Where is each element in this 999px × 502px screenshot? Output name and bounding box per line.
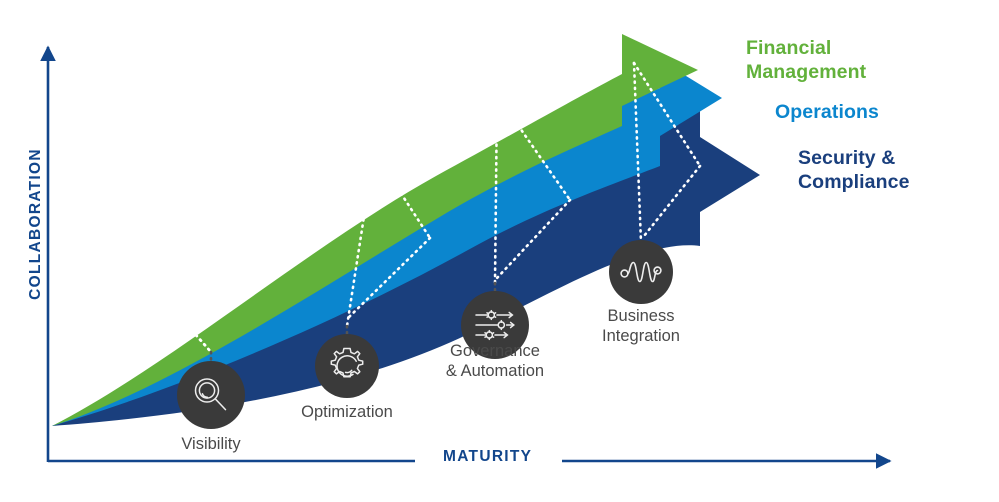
caption-line1: Governance [415, 341, 575, 361]
caption-line1: Optimization [267, 402, 427, 422]
caption-line2: & Automation [415, 361, 575, 381]
band-label-line1: Financial [746, 36, 866, 60]
maturity-diagram: COLLABORATION MATURITY Financial Managem… [0, 0, 999, 502]
x-axis-label: MATURITY [443, 448, 532, 466]
band-label-operations: Operations [775, 100, 879, 124]
gear-icon [315, 334, 379, 398]
visibility-caption: Visibility [131, 434, 291, 454]
caption-line1: Business [561, 306, 721, 326]
band-label-line2: Management [746, 60, 866, 84]
governance-automation-caption: Governance & Automation [415, 341, 575, 381]
optimization-circle[interactable] [315, 334, 379, 398]
band-label-line1: Security & [798, 146, 910, 170]
band-label-line2: Compliance [798, 170, 910, 194]
caption-line2: Integration [561, 326, 721, 346]
band-label-line1: Operations [775, 100, 879, 124]
band-label-financial-management: Financial Management [746, 36, 866, 84]
business-integration-circle[interactable] [609, 240, 673, 304]
magnifier-icon [177, 361, 245, 429]
caption-line1: Visibility [131, 434, 291, 454]
optimization-caption: Optimization [267, 402, 427, 422]
visibility-circle[interactable] [177, 361, 245, 429]
business-integration-caption: Business Integration [561, 306, 721, 346]
band-label-security-compliance: Security & Compliance [798, 146, 910, 194]
y-axis-label: COLLABORATION [27, 124, 45, 324]
waveform-icon [609, 240, 673, 304]
